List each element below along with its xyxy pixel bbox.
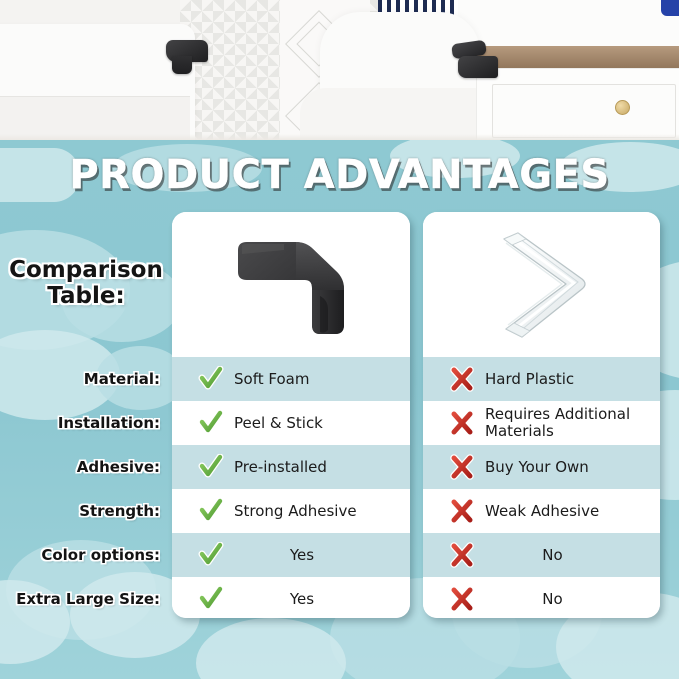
cross-icon bbox=[445, 586, 479, 612]
check-icon bbox=[194, 454, 228, 480]
installed-corner-guard-icon bbox=[172, 56, 192, 74]
check-icon bbox=[194, 542, 228, 568]
table-row: Weak Adhesive bbox=[423, 489, 660, 533]
table-row: No bbox=[423, 533, 660, 577]
product-card-plastic: Hard Plastic Requires Additional Materia… bbox=[423, 212, 660, 618]
table-row: Soft Foam bbox=[172, 357, 410, 401]
table-row: Requires Additional Materials bbox=[423, 401, 660, 445]
plastic-guard-image bbox=[423, 212, 660, 357]
clear-plastic-corner-guard-icon bbox=[482, 229, 602, 341]
plastic-value-rows: Hard Plastic Requires Additional Materia… bbox=[423, 357, 660, 618]
foam-value-rows: Soft Foam Peel & Stick bbox=[172, 357, 410, 618]
cross-icon bbox=[445, 410, 479, 436]
lifestyle-photo-band bbox=[0, 0, 679, 140]
drawer-knob-icon bbox=[615, 100, 630, 115]
check-icon bbox=[194, 586, 228, 612]
row-label-material: Material: bbox=[0, 357, 168, 401]
check-icon bbox=[194, 366, 228, 392]
cell-value: Soft Foam bbox=[228, 371, 309, 388]
row-label-column: Material: Installation: Adhesive: Streng… bbox=[0, 357, 168, 621]
installed-corner-guard-icon bbox=[458, 56, 498, 78]
table-row: Yes bbox=[172, 533, 410, 577]
check-icon bbox=[194, 498, 228, 524]
product-card-foam: Soft Foam Peel & Stick bbox=[172, 212, 410, 618]
table-row: Strong Adhesive bbox=[172, 489, 410, 533]
blue-decor-corner bbox=[661, 0, 679, 16]
table-row: Pre-installed bbox=[172, 445, 410, 489]
table-drawer bbox=[492, 84, 676, 138]
row-label-adhesive: Adhesive: bbox=[0, 445, 168, 489]
row-label-strength: Strength: bbox=[0, 489, 168, 533]
comparison-table-heading: Comparison Table: bbox=[4, 258, 168, 310]
cell-value: Buy Your Own bbox=[479, 459, 589, 476]
cell-value: Peel & Stick bbox=[228, 415, 323, 432]
table-row: Yes bbox=[172, 577, 410, 618]
cell-value: Strong Adhesive bbox=[228, 503, 357, 520]
cross-icon bbox=[445, 498, 479, 524]
table-row: No bbox=[423, 577, 660, 618]
cell-value: Pre-installed bbox=[228, 459, 327, 476]
armchair-arm bbox=[300, 88, 485, 140]
cell-value: No bbox=[479, 591, 660, 608]
cross-icon bbox=[445, 366, 479, 392]
check-icon bbox=[194, 410, 228, 436]
cell-value: Weak Adhesive bbox=[479, 503, 599, 520]
cell-value: Hard Plastic bbox=[479, 371, 574, 388]
comparison-heading-line2: Table: bbox=[4, 284, 168, 310]
foam-guard-image bbox=[172, 212, 410, 357]
table-row: Buy Your Own bbox=[423, 445, 660, 489]
row-label-color-options: Color options: bbox=[0, 533, 168, 577]
cloud-shape bbox=[196, 618, 346, 679]
table-row: Peel & Stick bbox=[172, 401, 410, 445]
comparison-heading-line1: Comparison bbox=[4, 258, 168, 284]
cell-value: Yes bbox=[228, 547, 410, 564]
cell-value: No bbox=[479, 547, 660, 564]
cell-value: Requires Additional Materials bbox=[479, 406, 660, 440]
page-title: PRODUCT ADVANTAGES bbox=[0, 152, 679, 198]
cross-icon bbox=[445, 542, 479, 568]
table-row: Hard Plastic bbox=[423, 357, 660, 401]
cross-icon bbox=[445, 454, 479, 480]
row-label-extra-large-size: Extra Large Size: bbox=[0, 577, 168, 621]
row-label-installation: Installation: bbox=[0, 401, 168, 445]
cell-value: Yes bbox=[228, 591, 410, 608]
black-foam-corner-guard-icon bbox=[224, 230, 359, 340]
product-advantages-infographic: PRODUCT ADVANTAGES Comparison Table: Mat… bbox=[0, 0, 679, 679]
